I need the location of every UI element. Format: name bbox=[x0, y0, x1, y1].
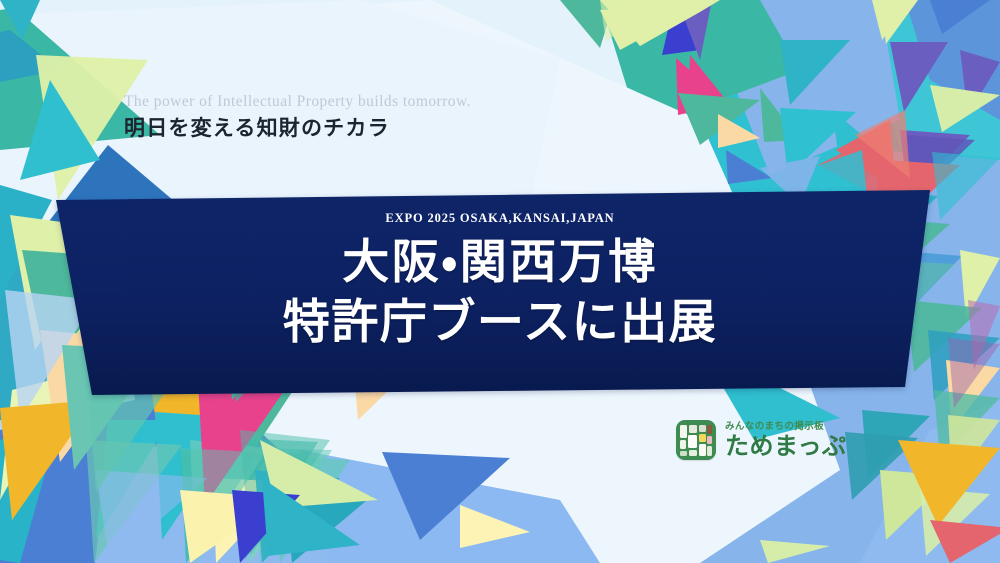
navy-banner-shape bbox=[0, 190, 1000, 405]
logo-tile-3 bbox=[707, 425, 712, 434]
logo-tile-8 bbox=[680, 451, 687, 456]
tamemap-logo-subtitle: みんなのまちの掲示板 bbox=[725, 422, 847, 432]
poster-canvas: The power of Intellectual Property build… bbox=[0, 0, 1000, 563]
tamemap-logo-icon bbox=[676, 420, 716, 460]
tagline-english: The power of Intellectual Property build… bbox=[124, 92, 471, 111]
logo-tile-0 bbox=[680, 425, 687, 438]
tagline-japanese: 明日を変える知財のチカラ bbox=[124, 114, 471, 142]
logo-tile-2 bbox=[699, 425, 706, 432]
logo-tile-9 bbox=[689, 450, 697, 456]
logo-tile-7 bbox=[707, 436, 712, 444]
logo-tile-4 bbox=[680, 440, 686, 449]
logo-tile-1 bbox=[689, 425, 697, 433]
tamemap-logo-text: みんなのまちの掲示板 ためまっぷ bbox=[725, 422, 847, 458]
tagline-block: The power of Intellectual Property build… bbox=[124, 92, 471, 143]
logo-tile-5 bbox=[688, 435, 697, 448]
logo-tile-6 bbox=[699, 434, 706, 442]
tamemap-logo-name: ためまっぷ bbox=[725, 434, 847, 458]
logo-tile-11 bbox=[707, 446, 712, 456]
tamemap-logo[interactable]: みんなのまちの掲示板 ためまっぷ bbox=[676, 420, 847, 460]
logo-tile-10 bbox=[699, 444, 706, 456]
